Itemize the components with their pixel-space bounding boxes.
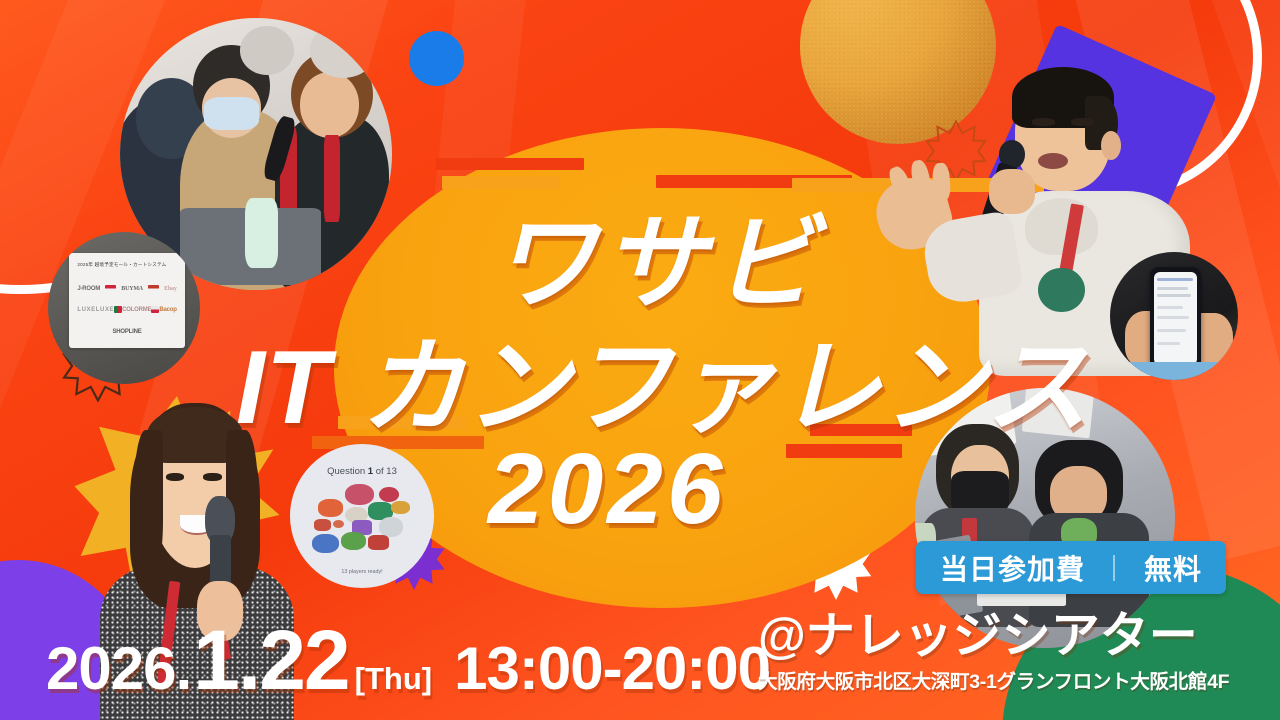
- presentation-slide-photo: 2025年 越境予定モール・カートシステム J-ROOM BUYMA Ebay …: [48, 232, 200, 384]
- accent-bar: [442, 176, 560, 189]
- blue-circle-decoration: [409, 31, 464, 86]
- admission-fee-label: 当日参加費: [940, 548, 1085, 588]
- event-month-day: 1.22: [193, 612, 349, 709]
- badge-separator: ｜: [1101, 549, 1128, 586]
- accent-bar: [338, 416, 466, 429]
- event-poster: 2025年 越境予定モール・カートシステム J-ROOM BUYMA Ebay …: [0, 0, 1280, 720]
- event-date-time: 2026. 1.22 [Thu] 13:00-20:00: [46, 612, 770, 709]
- accent-bar: [786, 444, 902, 458]
- accent-bar: [810, 424, 912, 436]
- slide-card: 2025年 越境予定モール・カートシステム J-ROOM BUYMA Ebay …: [69, 253, 185, 347]
- quiz-screen-photo: Question 1 of 13 13 players ready!: [290, 444, 434, 588]
- quiz-players-text: 13 players ready!: [341, 569, 382, 575]
- event-time: 13:00-20:00: [454, 634, 770, 703]
- event-year: 2026.: [46, 634, 191, 703]
- admission-fee-badge: 当日参加費 ｜ 無料: [916, 541, 1226, 594]
- event-day-of-week: [Thu]: [355, 661, 432, 697]
- admission-fee-value: 無料: [1144, 548, 1202, 588]
- venue-block: @ナレッジシアター 大阪府大阪市北区大深町3-1グランフロント大阪北館4F: [758, 612, 1274, 694]
- quiz-question-text: Question 1 of 13: [327, 466, 397, 477]
- accent-bar: [436, 158, 584, 170]
- slide-heading: 2025年 越境予定モール・カートシステム: [77, 262, 166, 268]
- venue-address: 大阪府大阪市北区大深町3-1グランフロント大阪北館4F: [758, 665, 1274, 694]
- venue-name: @ナレッジシアター: [758, 612, 1274, 662]
- smartphone-in-hands-photo: [1110, 252, 1238, 380]
